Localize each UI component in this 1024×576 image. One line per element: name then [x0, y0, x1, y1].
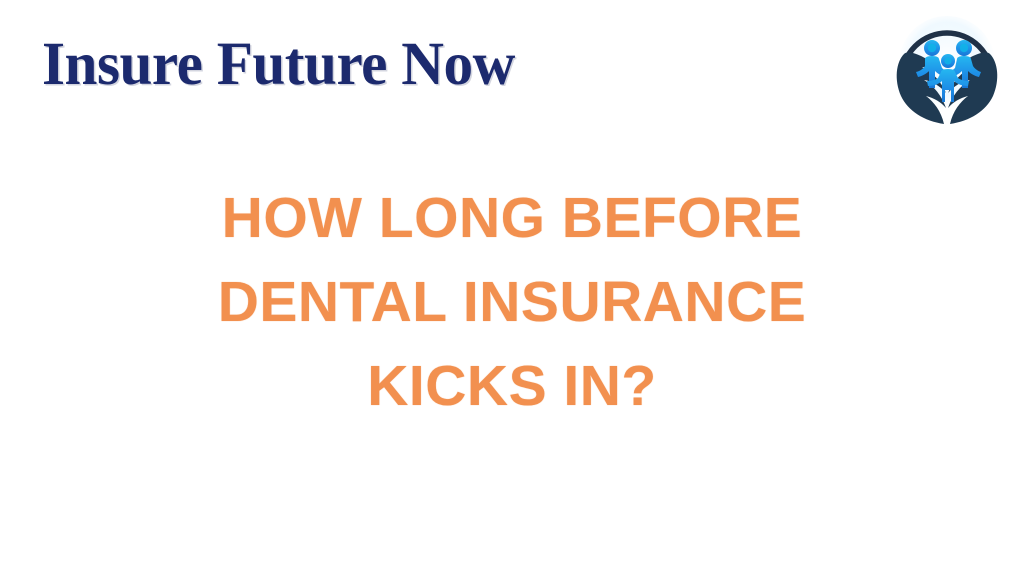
headline-line-1: HOW LONG BEFORE: [0, 176, 1024, 260]
slide-canvas: Insure Future Now: [0, 0, 1024, 576]
family-in-hands-logo-icon: [884, 6, 1010, 128]
headline-block: HOW LONG BEFORE DENTAL INSURANCE KICKS I…: [0, 176, 1024, 428]
headline-line-2: DENTAL INSURANCE: [0, 260, 1024, 344]
brand-logo: [884, 6, 1010, 128]
brand-header: Insure Future Now: [0, 0, 1024, 140]
headline-line-3: KICKS IN?: [0, 344, 1024, 428]
brand-title: Insure Future Now: [42, 30, 515, 100]
